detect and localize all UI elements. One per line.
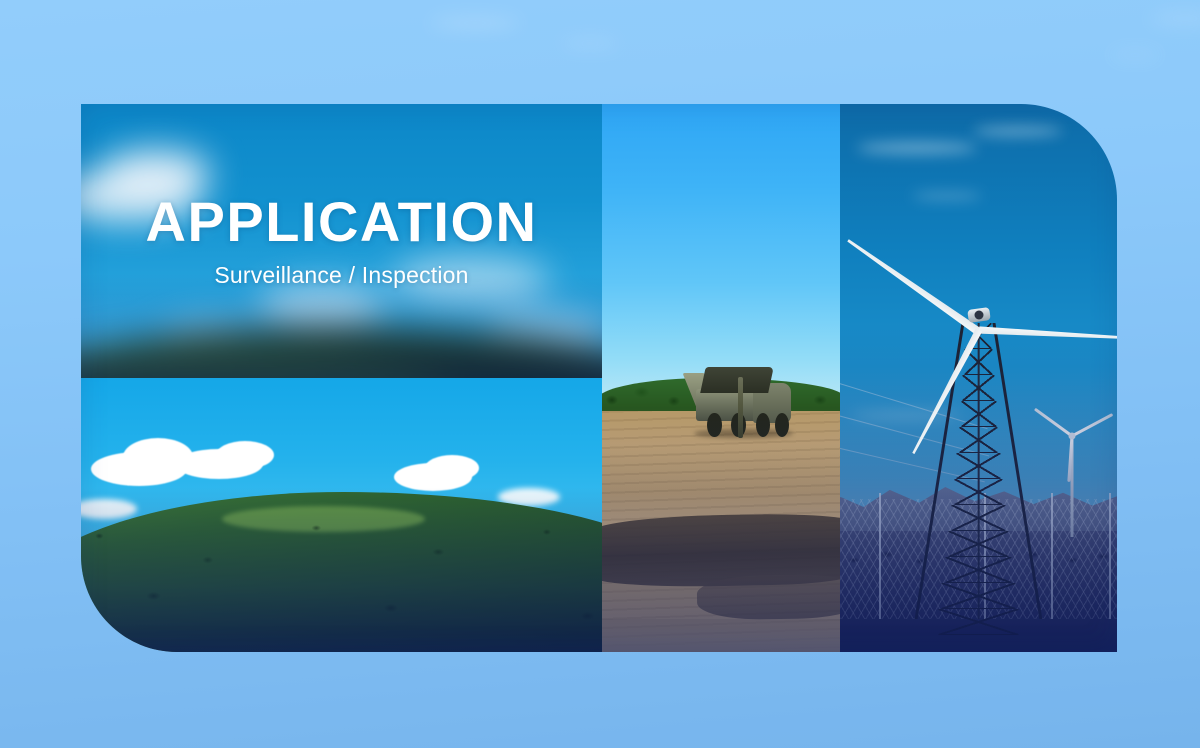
turbine-tint (840, 104, 1117, 652)
panel-hillside-landscape (81, 378, 602, 652)
background-cloud-wisp (430, 18, 520, 28)
field-scene (602, 104, 840, 652)
page-subtitle: Surveillance / Inspection (214, 262, 468, 289)
page-title: APPLICATION (146, 194, 538, 250)
hero-text-block: APPLICATION Surveillance / Inspection (81, 104, 602, 378)
panel-wind-turbine (840, 104, 1117, 652)
panel-application-hero: APPLICATION Surveillance / Inspection (81, 104, 602, 378)
background-cloud-wisp (1110, 52, 1160, 58)
application-collage: APPLICATION Surveillance / Inspection (81, 104, 1117, 652)
collage-column-left: APPLICATION Surveillance / Inspection (81, 104, 602, 652)
panel-field-vehicle (602, 104, 840, 652)
hillside-scene (81, 378, 602, 652)
turbine-hub (974, 310, 983, 319)
hillside-tint (81, 378, 602, 652)
field-tint (602, 104, 840, 652)
background-cloud-wisp (560, 40, 620, 47)
turbine-scene (840, 104, 1117, 652)
background-cloud-wisp (1150, 14, 1200, 23)
